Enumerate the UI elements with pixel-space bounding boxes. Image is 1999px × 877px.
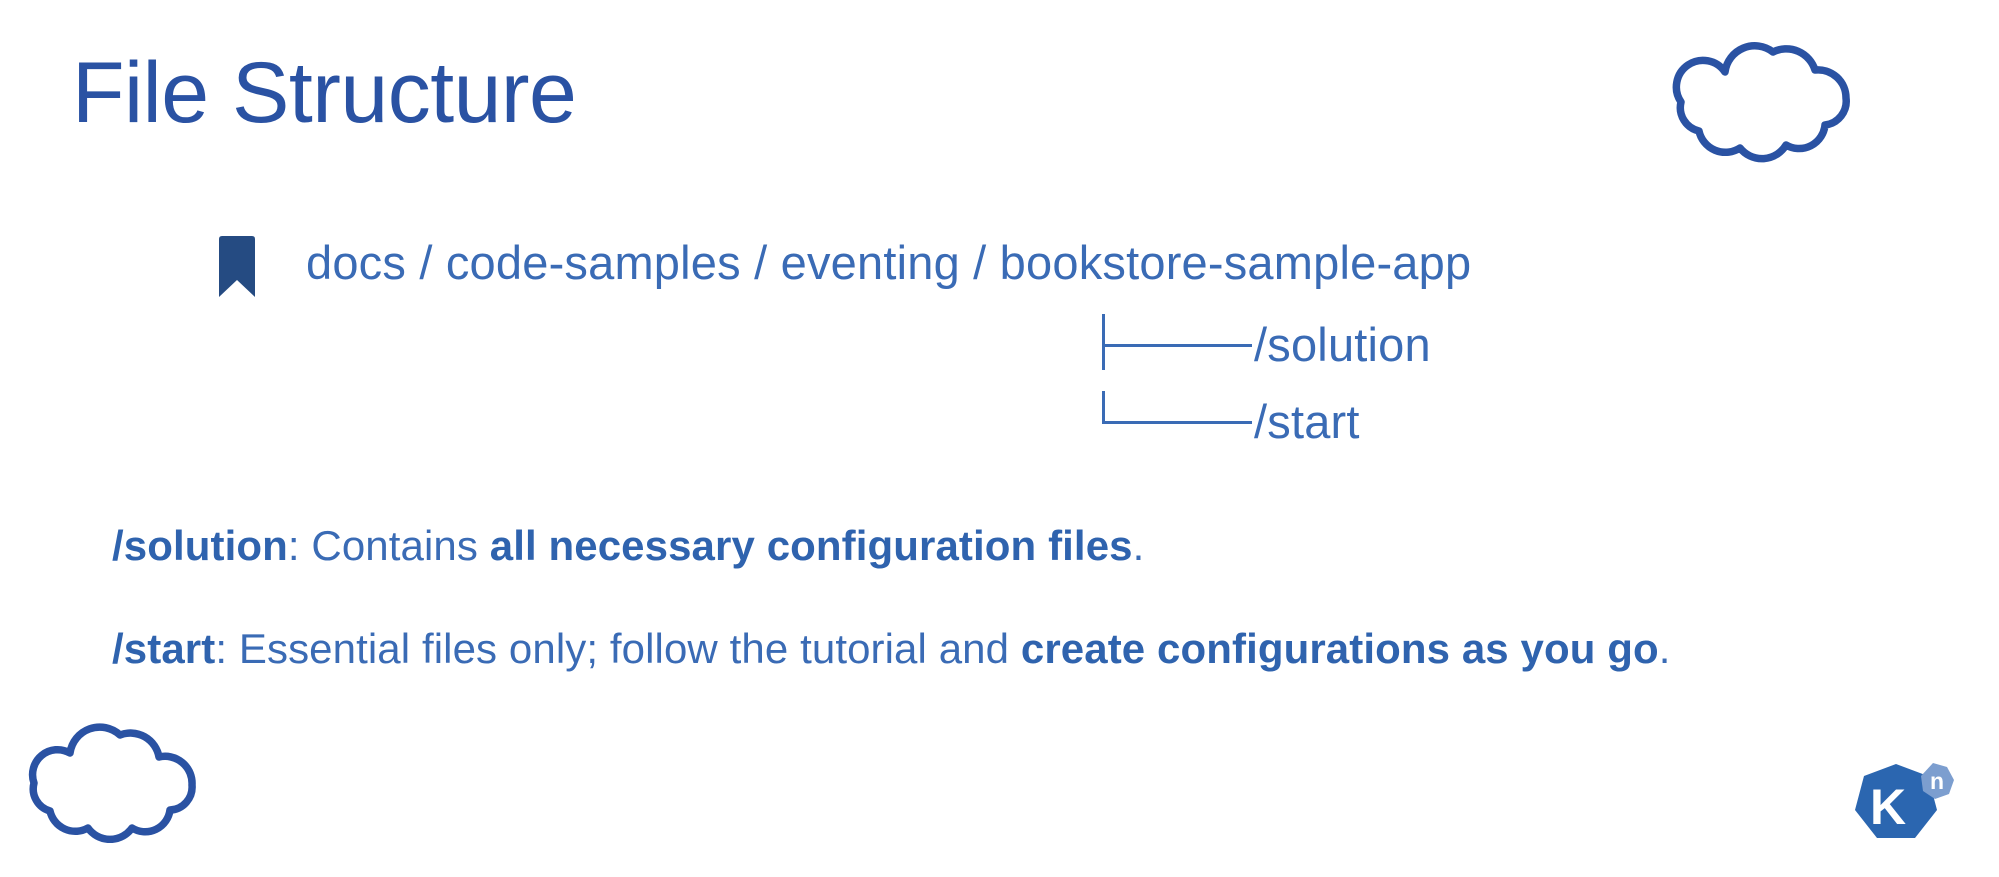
tree-branch-tee-icon <box>1102 320 1252 370</box>
cloud-icon <box>1655 28 1875 163</box>
body-run-bold: all necessary configuration files <box>490 522 1133 569</box>
body-run-regular: . <box>1133 522 1145 569</box>
bookmark-icon <box>214 235 260 299</box>
knative-logo: K n <box>1848 756 1966 860</box>
tree-label-start: /start <box>1254 395 1360 448</box>
body-line-solution: /solution: Contains all necessary config… <box>112 521 1144 571</box>
tree-label-solution: /solution <box>1254 318 1431 371</box>
slide-canvas: File Structure docs / code-samples / eve… <box>0 0 1999 877</box>
knative-n-letter: n <box>1930 768 1944 794</box>
tree-branch-elbow-icon <box>1102 397 1252 447</box>
file-path-text: docs / code-samples / eventing / booksto… <box>306 235 1471 290</box>
body-run-regular: : Essential files only; follow the tutor… <box>215 625 1021 672</box>
cloud-icon <box>12 713 222 843</box>
body-run-regular: : Contains <box>288 522 490 569</box>
tree-row-start: /start <box>1102 390 1360 449</box>
knative-k-letter: K <box>1870 779 1906 835</box>
body-run-regular: . <box>1659 625 1671 672</box>
tree-row-solution: /solution <box>1102 313 1431 372</box>
body-run-bold: /start <box>112 625 215 672</box>
body-run-bold: create configurations as you go <box>1021 625 1659 672</box>
page-title: File Structure <box>72 48 576 138</box>
body-line-start: /start: Essential files only; follow the… <box>112 624 1671 674</box>
body-run-bold: /solution <box>112 522 288 569</box>
